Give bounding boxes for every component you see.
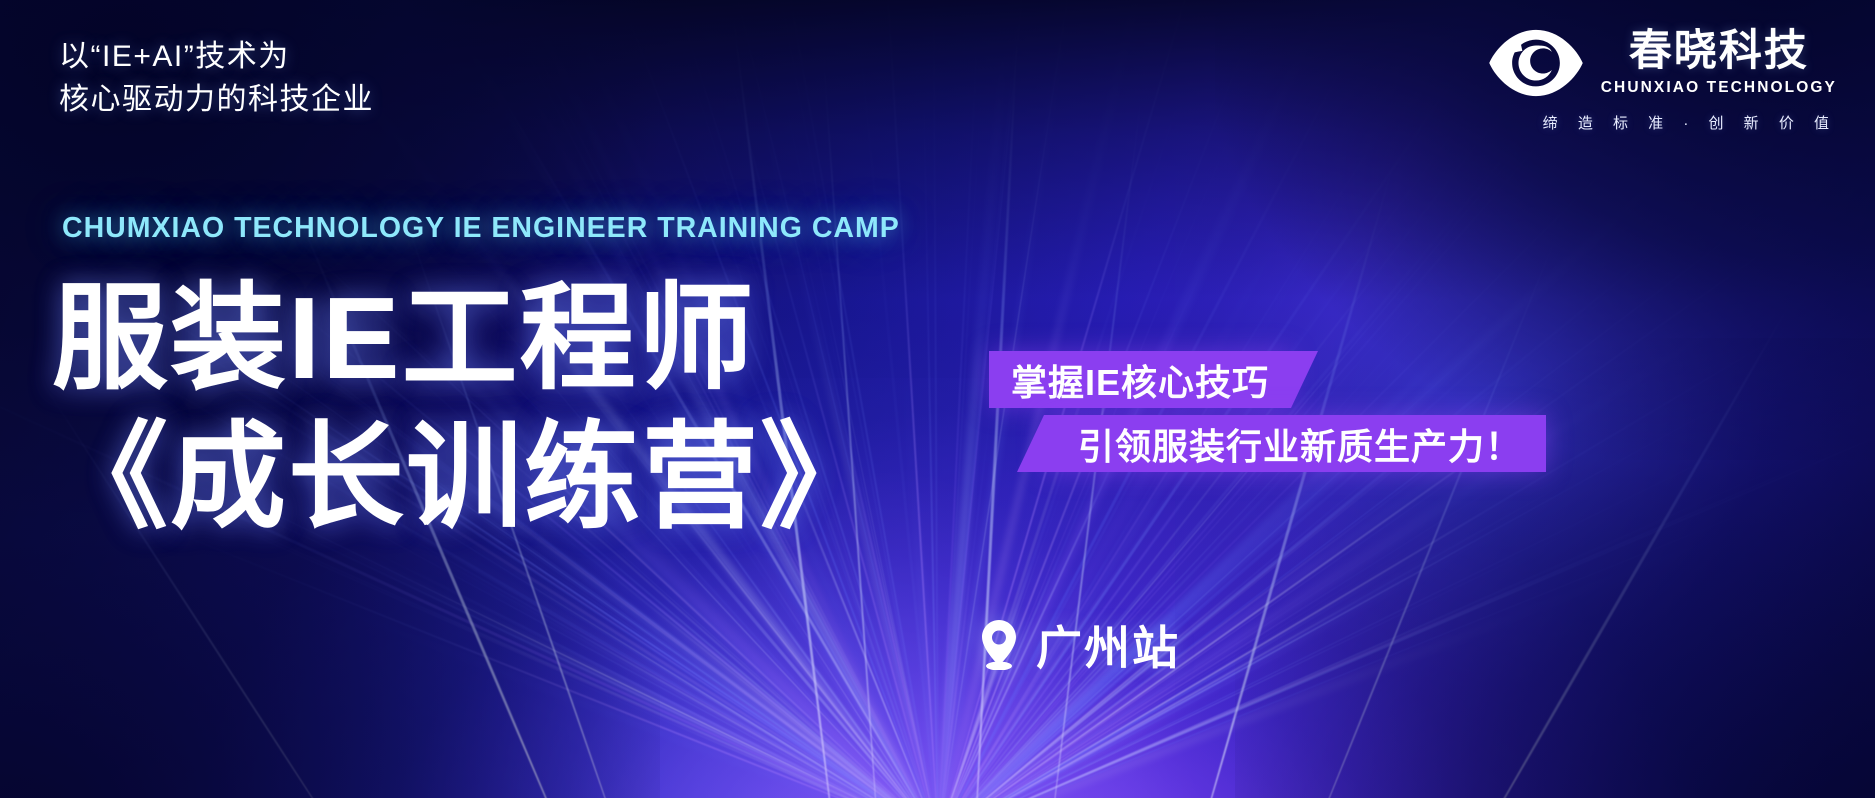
light-streak [499,649,938,798]
light-streak [566,533,938,798]
tagline-line-2: 核心驱动力的科技企业 [59,79,374,122]
page-title: 服装IE工程师 《成长训练营》 [52,266,878,550]
light-streak [937,179,1867,798]
brand-slogan: 缔 造 标 准 · 创 新 价 值 [1543,112,1837,133]
light-streak [936,0,992,798]
light-streak [125,512,938,798]
vignette-bottom-right [1235,338,1875,798]
callout-band-secondary: 引领服装行业新质生产力！ [1044,415,1546,472]
light-streak [937,235,1514,798]
light-streak [284,526,938,798]
location-label: 广州站 [1036,612,1180,678]
light-streak [937,190,1739,798]
light-streak [937,209,1705,798]
map-pin-icon [980,620,1018,670]
light-streak [499,567,938,798]
light-streak [262,578,939,798]
light-streak [937,192,1405,798]
light-streak [544,608,937,798]
light-streak [347,507,938,798]
light-streak [341,535,938,798]
headline-line-1: 服装IE工程师 [52,266,878,411]
light-streak [937,21,1627,798]
hero-light-streak [974,25,1019,798]
brand-name-en: CHUNXIAO TECHNOLOGY [1601,79,1837,97]
brand-logo-block: 春晓科技 CHUNXIAO TECHNOLOGY 缔 造 标 准 · 创 新 价… [1487,26,1837,133]
light-streak [937,420,1629,798]
eye-swirl-logo-icon [1487,26,1585,100]
light-streak [529,552,938,798]
event-location: 广州站 [980,612,1180,678]
light-streak [936,386,994,798]
light-streak [937,0,980,798]
headline-line-2: 《成长训练营》 [52,405,878,550]
light-streak [933,155,1328,798]
light-streak [937,420,1615,798]
light-streak [922,53,939,798]
logo-row: 春晓科技 CHUNXIAO TECHNOLOGY [1487,26,1837,100]
light-streak [935,266,1804,798]
light-streak [931,0,938,798]
light-streak [937,571,1561,798]
callout-band-primary: 掌握IE核心技巧 [989,351,1291,408]
light-streak [937,251,1211,798]
light-streak [937,416,1713,798]
brand-name-cn: 春晓科技 [1629,29,1809,74]
light-streak [530,557,939,798]
light-streak [937,239,1595,798]
light-streak [937,159,1571,798]
tagline-line-1: 以“IE+AI”技术为 [59,36,374,79]
light-streak [423,511,939,798]
english-subtitle: CHUMXIAO TECHNOLOGY IE ENGINEER TRAINING… [62,212,900,245]
light-streak [385,555,938,798]
light-streak [879,0,938,798]
light-streak [898,322,941,798]
light-streak [937,169,1529,798]
promo-banner: 以“IE+AI”技术为 核心驱动力的科技企业 春晓科技 CHUNXIAO TEC… [0,0,1875,798]
hero-light-streak [1480,298,1793,798]
hero-light-streak [1199,147,1400,798]
hero-light-streak [1312,216,1565,798]
logo-names: 春晓科技 CHUNXIAO TECHNOLOGY [1601,29,1837,97]
company-tagline: 以“IE+AI”技术为 核心驱动力的科技企业 [59,36,374,121]
light-streak [594,535,939,798]
